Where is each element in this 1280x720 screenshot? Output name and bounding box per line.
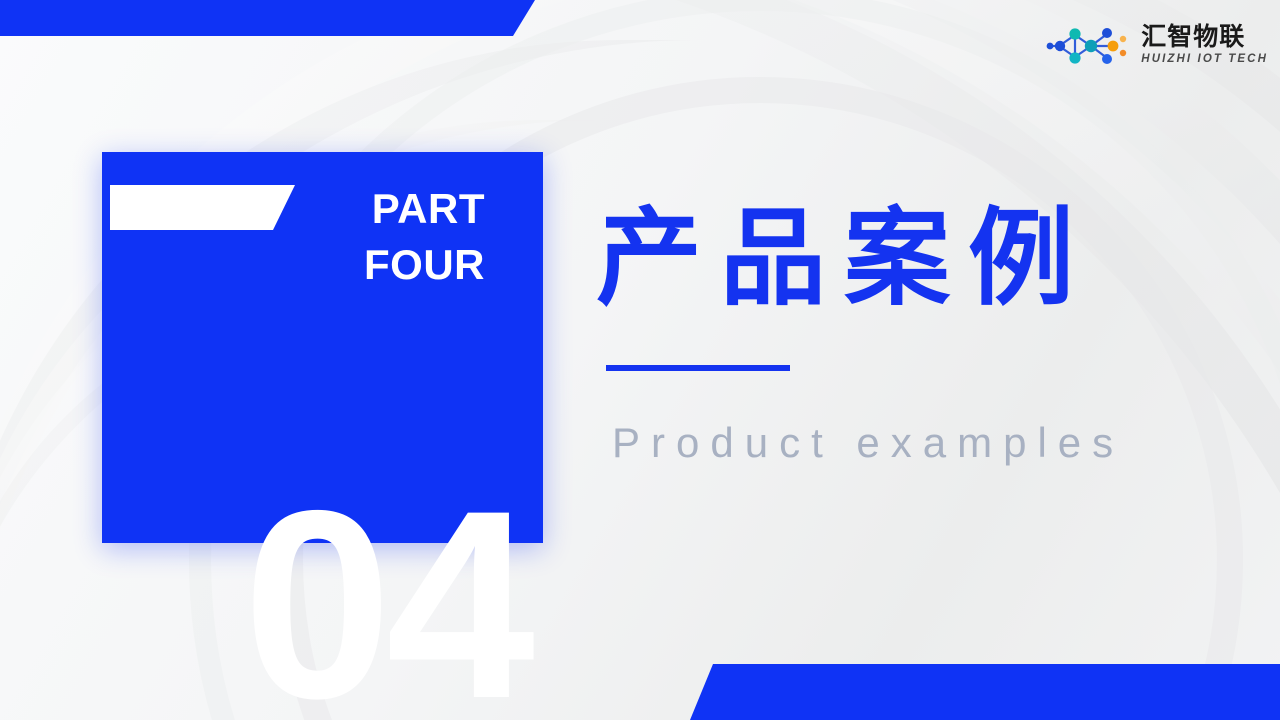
- part-label-line1: PART: [225, 181, 485, 237]
- section-number: 04: [102, 470, 529, 720]
- huizhi-molecule-logo-icon: [1041, 24, 1133, 68]
- title-divider-rule: [606, 365, 790, 371]
- top-left-blue-ribbon: [0, 0, 535, 36]
- logo-company-name-en: HUIZHI IOT TECH: [1141, 51, 1268, 68]
- company-logo: 汇智物联 HUIZHI IOT TECH: [1041, 24, 1268, 68]
- page-title-chinese: 产品案例: [596, 206, 1092, 312]
- section-number-panel: PART FOUR 04: [102, 152, 543, 543]
- page-subtitle-english: Product examples: [612, 422, 1124, 464]
- part-label-line2: FOUR: [225, 237, 485, 293]
- slide-canvas: PART FOUR 04 产品案例 Product examples: [0, 0, 1280, 720]
- logo-wordmark: 汇智物联 HUIZHI IOT TECH: [1141, 24, 1268, 68]
- bottom-right-blue-ribbon: [690, 664, 1280, 720]
- part-label: PART FOUR: [225, 181, 485, 294]
- logo-company-name-cn: 汇智物联: [1141, 24, 1268, 50]
